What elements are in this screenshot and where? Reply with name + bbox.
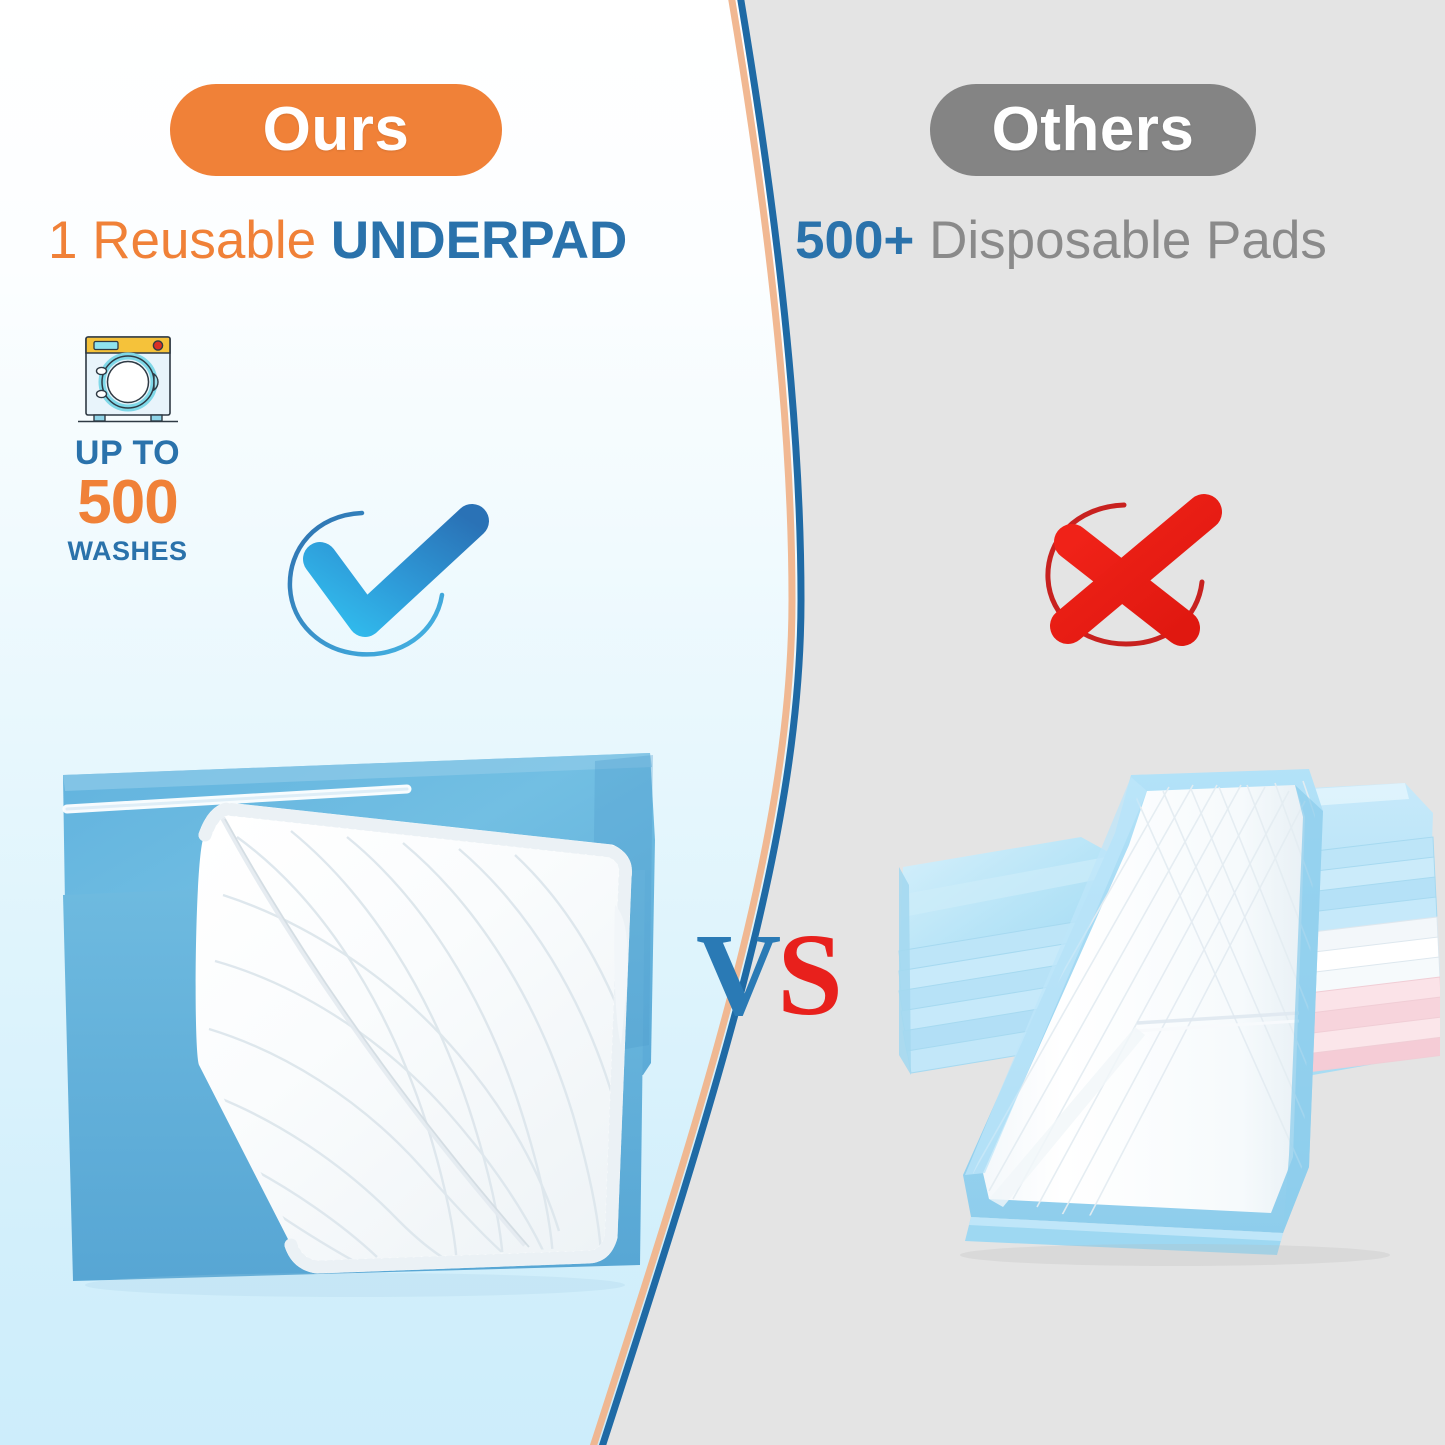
others-subtitle-count: 500+ [795,211,929,270]
others-subtitle-product: Disposable Pads [929,211,1327,270]
others-subtitle: 500+ Disposable Pads [795,214,1327,267]
check-mark-icon [272,487,512,672]
ours-subtitle-count: 1 Reusable [48,211,331,270]
versus-s: S [777,909,839,1040]
versus-v: V [696,909,777,1040]
washes-up-to-label: UP TO [55,436,200,470]
infographic-canvas: Ours 1 Reusable UNDERPAD [0,0,1445,1445]
others-badge: Others [930,84,1256,176]
ours-subtitle: 1 Reusable UNDERPAD [48,214,627,267]
cross-mark-icon [1032,478,1237,663]
ours-badge: Ours [170,84,502,176]
reusable-underpad-photo [55,745,670,1300]
washing-machine-icon [68,325,188,430]
ours-subtitle-product: UNDERPAD [331,211,627,270]
washes-label: WASHES [55,535,200,567]
disposable-pads-photo [885,755,1440,1270]
versus-label: VS [696,916,839,1034]
washes-badge: UP TO 500 WASHES [55,325,200,567]
washes-count: 500 [55,470,200,535]
